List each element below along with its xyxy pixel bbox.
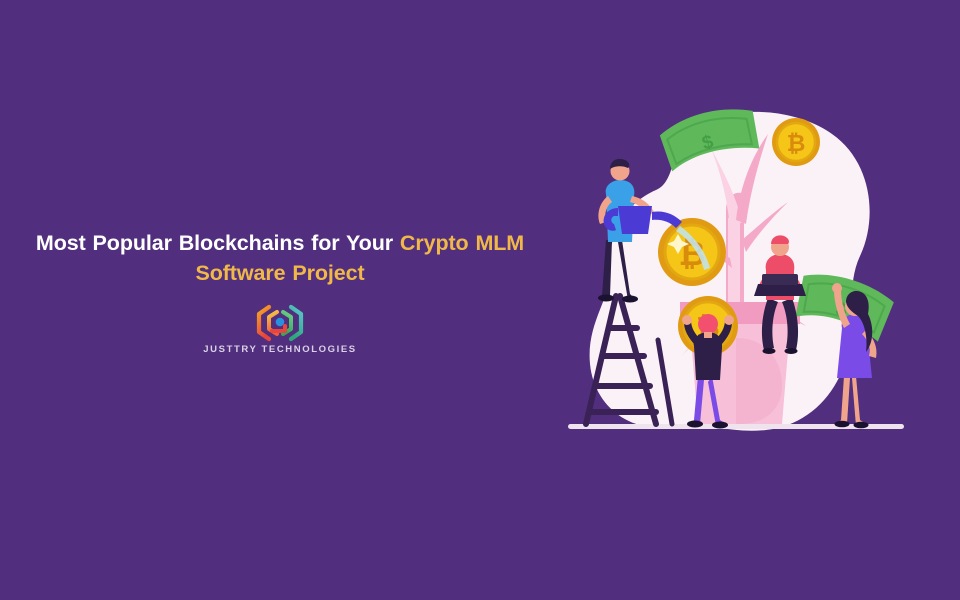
bitcoin-coin-middle: ₿ [658,218,726,286]
money-tree-illustration: $ $ ₿ ₿ ₿ [560,90,920,450]
svg-text:₿: ₿ [787,130,806,156]
page-title: Most Popular Blockchains for Your Crypto… [0,228,560,288]
headline-block: Most Popular Blockchains for Your Crypto… [0,228,560,288]
headline-primary-text: Most Popular Blockchains for Your [36,231,400,255]
logo-wordmark: JUSTTRY TECHNOLOGIES [203,344,356,356]
hexagon-bracket-logo-icon [249,303,311,343]
brand-logo[interactable]: JUSTTRY TECHNOLOGIES [0,303,560,356]
center-dot-icon [276,318,285,327]
bitcoin-coin-top: ₿ [772,118,820,166]
blog-banner: Most Popular Blockchains for Your Crypto… [0,0,960,600]
